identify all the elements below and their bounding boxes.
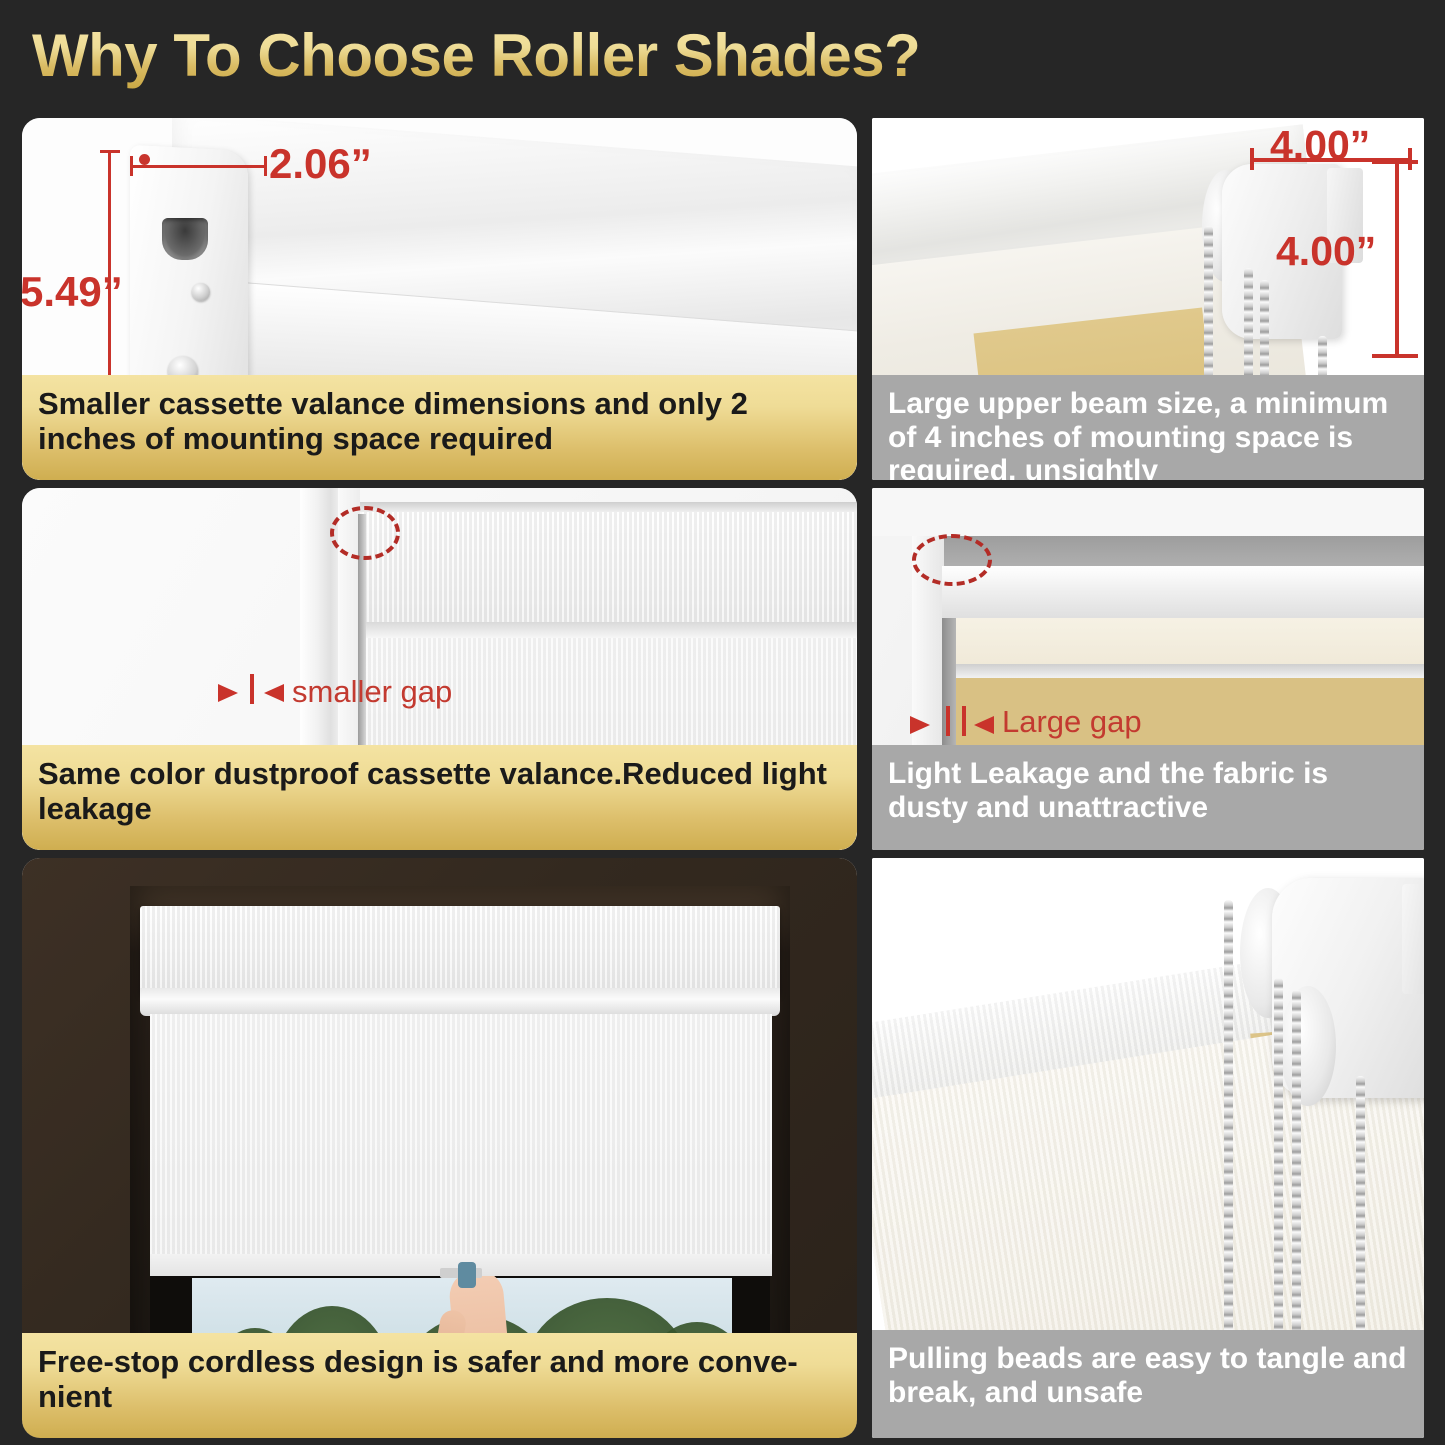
header: Why To Choose Roller Shades?: [0, 0, 1445, 110]
depth-dimension-label: 2.06”: [269, 140, 372, 188]
panel-con-beam-size: 4.00” 4.00” Large upper beam size, a min…: [872, 118, 1424, 480]
caption-con-beam-size: Large upper beam size, a minimum of 4 in…: [872, 375, 1424, 480]
bead-chain-icon: [1224, 900, 1233, 1338]
bead-chain-icon: [1274, 978, 1283, 1338]
panel-pro-cassette-size: 5.49” 2.06” Smaller cassette valance dim…: [22, 118, 857, 480]
caption-pro-cordless-design: Free-stop cordless design is safer and m…: [22, 1333, 857, 1438]
hand-grip: [458, 1262, 476, 1288]
caption-pro-dustproof-valance: Same color dustproof cassette valance.Re…: [22, 745, 857, 850]
gap-arrow-right-icon: [910, 716, 930, 734]
panel-con-light-leakage: Large gap Light Leakage and the fabric i…: [872, 488, 1424, 850]
screw-icon: [192, 283, 210, 301]
measure-origin-dot: [139, 154, 150, 165]
bead-chain-icon: [1356, 1076, 1365, 1338]
height-dimension-label: 5.49”: [22, 268, 123, 316]
valance-slot-icon: [162, 218, 208, 260]
gap-arrow-left-icon: [974, 716, 994, 734]
depth-dimension-line: [132, 165, 267, 168]
caption-con-pulling-beads: Pulling beads are easy to tangle and bre…: [872, 1330, 1424, 1438]
page-title: Why To Choose Roller Shades?: [32, 21, 920, 90]
highlight-circle-icon: [330, 506, 400, 560]
caption-con-light-leakage: Light Leakage and the fabric is dusty an…: [872, 745, 1424, 850]
gap-arrow-right-icon: [218, 684, 238, 702]
panel-con-pulling-beads: Pulling beads are easy to tangle and bre…: [872, 858, 1424, 1438]
bead-chain-icon: [1292, 990, 1301, 1338]
highlight-circle-icon: [912, 534, 992, 586]
gap-arrow-left-icon: [264, 684, 284, 702]
panel-pro-cordless-design: Free-stop cordless design is safer and m…: [22, 858, 857, 1438]
smaller-gap-label: smaller gap: [292, 674, 452, 710]
comparison-grid: 5.49” 2.06” Smaller cassette valance dim…: [0, 110, 1445, 1445]
width-dimension-label: 4.00”: [1270, 122, 1370, 169]
height-dimension-label: 4.00”: [1276, 228, 1376, 275]
height-dimension-line: [1395, 160, 1399, 358]
large-gap-label: Large gap: [1002, 704, 1142, 740]
caption-pro-cassette-size: Smaller cassette valance dimensions and …: [22, 375, 857, 480]
panel-pro-dustproof-valance: smaller gap Same color dustproof cassett…: [22, 488, 857, 850]
